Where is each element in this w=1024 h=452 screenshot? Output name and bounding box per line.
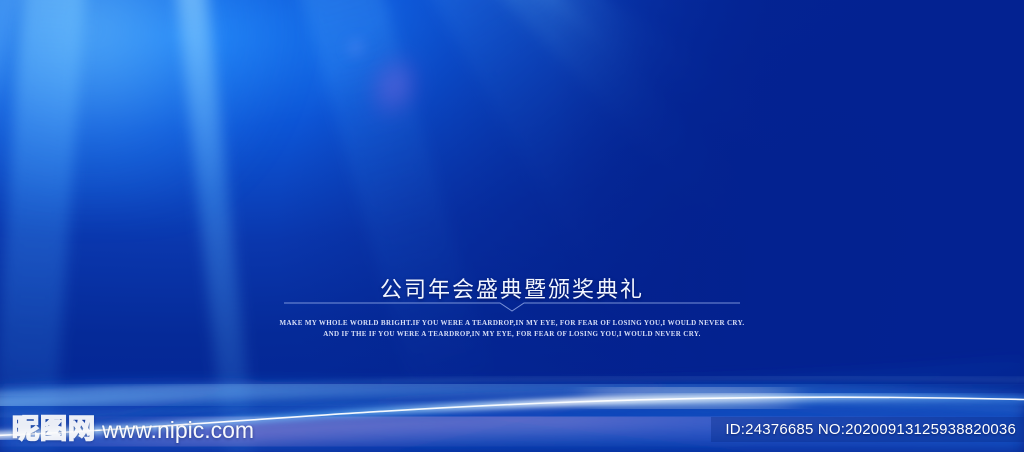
tagline-line-1: MAKE MY WHOLE WORLD BRIGHT.IF YOU WERE A… [0,318,1024,329]
ribbon-hotspot [580,389,800,407]
divider-ornament [0,300,1024,314]
page-title: 签 到 处 [0,172,1024,238]
tagline-block: MAKE MY WHOLE WORLD BRIGHT.IF YOU WERE A… [0,318,1024,340]
watermark-site-name: 昵图网 [12,407,96,446]
tagline-line-2: AND IF THE IF YOU WERE A TEARDROP,IN MY … [0,329,1024,340]
watermark: 昵图网 www.nipic.com [12,407,254,446]
poster-canvas: 签 到 处 公司年会盛典暨颁奖典礼 MAKE MY WHOLE WORLD BR… [0,0,1024,452]
asset-id-label: ID:24376685 NO:20200913125938820036 [711,417,1024,442]
watermark-site-url: www.nipic.com [102,417,254,444]
